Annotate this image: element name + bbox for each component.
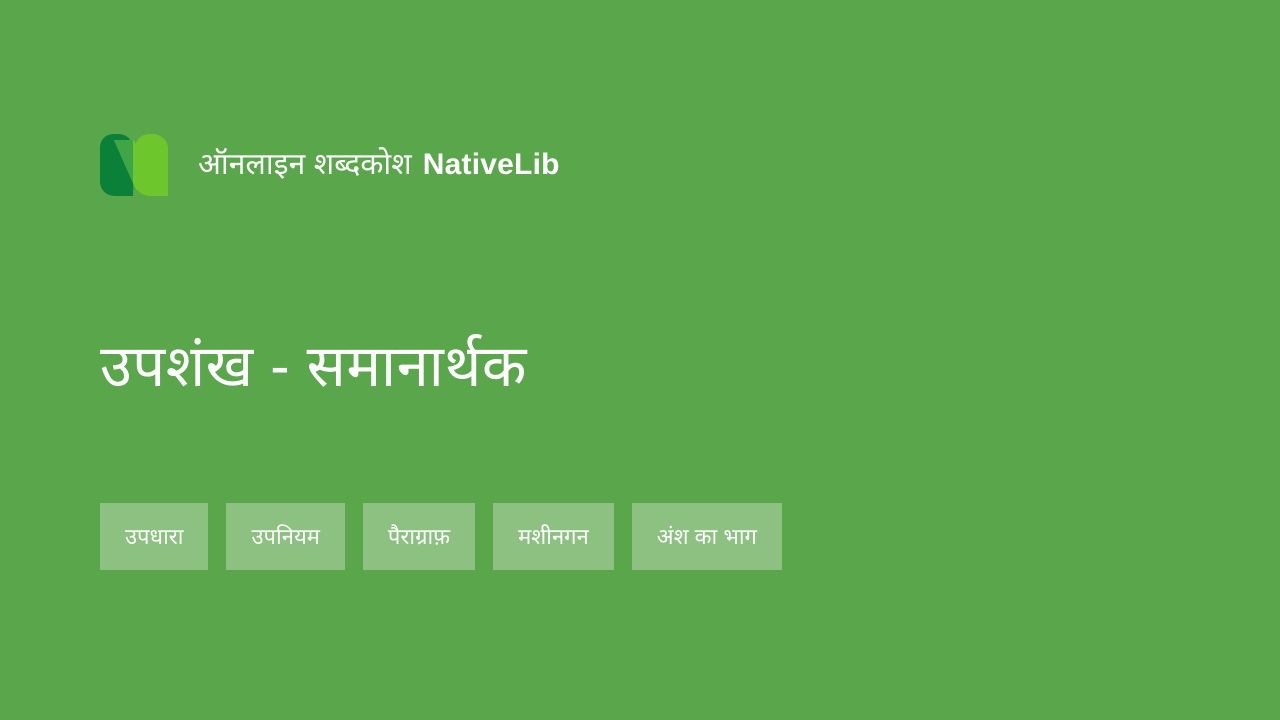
page-title: उपशंख - समानार्थक bbox=[100, 327, 1180, 407]
brand-name: NativeLib bbox=[423, 148, 560, 182]
nativelib-n-logo-icon bbox=[100, 134, 168, 196]
synonym-tag[interactable]: पैराग्राफ़ bbox=[363, 503, 475, 570]
brand-subtitle: ऑनलाइन शब्दकोश bbox=[198, 148, 412, 182]
synonym-tag[interactable]: उपधारा bbox=[100, 503, 208, 570]
synonym-tag[interactable]: उपनियम bbox=[226, 503, 344, 570]
synonym-tag[interactable]: अंश का भाग bbox=[632, 503, 782, 570]
synonym-tag-list: उपधारा उपनियम पैराग्राफ़ मशीनगन अंश का भ… bbox=[100, 503, 1190, 570]
synonym-tag[interactable]: मशीनगन bbox=[493, 503, 614, 570]
site-brand[interactable]: ऑनलाइन शब्दकोश NativeLib bbox=[100, 133, 560, 197]
page-root: ऑनलाइन शब्दकोश NativeLib उपशंख - समानार्… bbox=[0, 0, 1280, 720]
brand-text: ऑनलाइन शब्दकोश NativeLib bbox=[198, 148, 560, 182]
logo-wrapper bbox=[100, 134, 168, 196]
